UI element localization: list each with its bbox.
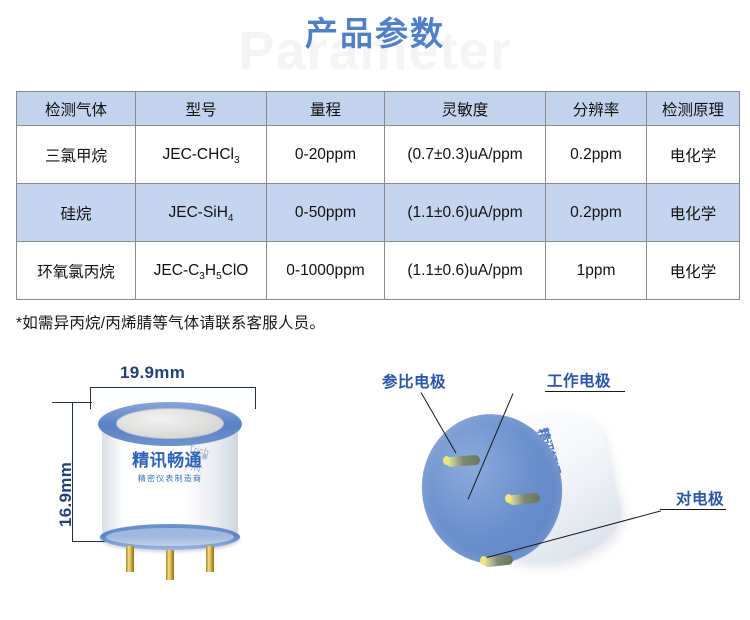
column-header-model: 型号 — [136, 92, 267, 126]
model-subscript: 4 — [228, 213, 234, 224]
model-subscript: 3 — [234, 155, 240, 166]
table-header-row: 检测气体 型号 量程 灵敏度 分辨率 检测原理 — [17, 92, 740, 126]
sensor-pin — [126, 546, 134, 572]
table-footnote: *如需异丙烷/丙烯腈等气体请联系客服人员。 — [16, 311, 325, 333]
callout-underline-counter-electrode — [660, 509, 726, 510]
column-header-resolution: 分辨率 — [546, 92, 647, 126]
cell-gas: 三氯甲烷 — [17, 126, 136, 184]
cell-principle: 电化学 — [647, 242, 740, 300]
sensor-pin — [206, 546, 214, 572]
model-text: JEC-SiH — [169, 204, 228, 221]
brand-tagline: 精密仪表制造商 — [114, 473, 226, 484]
cell-principle: 电化学 — [647, 126, 740, 184]
brand-name-text: 精讯畅通 — [132, 451, 202, 470]
model-text: JEC-C — [154, 262, 200, 279]
sensor-bottom-view: 精讯畅通精密仪表制造商 — [418, 400, 658, 600]
dimension-width-tick-left — [90, 387, 91, 409]
dimension-height-line — [72, 402, 73, 542]
dimension-width-label: 19.9mm — [120, 363, 185, 383]
cell-resolution: 0.2ppm — [546, 184, 647, 242]
dimension-width-line — [90, 387, 256, 388]
dimension-width-tick-right — [255, 387, 256, 409]
cell-gas: 硅烷 — [17, 184, 136, 242]
sensor-pin — [166, 550, 174, 580]
dimension-height-tick-top — [52, 402, 92, 403]
cell-range: 0-50ppm — [267, 184, 385, 242]
table-row: 环氧氯丙烷 JEC-C3H5ClO 0-1000ppm (1.1±0.6)uA/… — [17, 242, 740, 300]
specification-table: 检测气体 型号 量程 灵敏度 分辨率 检测原理 三氯甲烷 JEC-CHCl3 0… — [16, 91, 740, 300]
cell-sensitivity: (1.1±0.6)uA/ppm — [385, 242, 546, 300]
cell-sensitivity: (0.7±0.3)uA/ppm — [385, 126, 546, 184]
model-subscript-2: 5 — [216, 271, 222, 282]
reference-electrode-tip — [443, 456, 450, 465]
table-row: 硅烷 JEC-SiH4 0-50ppm (1.1±0.6)uA/ppm 0.2p… — [17, 184, 740, 242]
cell-resolution: 0.2ppm — [546, 126, 647, 184]
registered-mark-icon: ® — [202, 454, 208, 461]
sensor-gas-filter-mesh — [116, 408, 224, 439]
callout-label-reference-electrode: 参比电极 — [382, 370, 446, 392]
cell-gas: 环氧氯丙烷 — [17, 242, 136, 300]
page-title: 产品参数 — [0, 14, 750, 54]
brand-name: 精讯畅通® — [132, 452, 208, 471]
brand-logo: 精讯畅通® 精密仪表制造商 — [114, 452, 226, 484]
table-row: 三氯甲烷 JEC-CHCl3 0-20ppm (0.7±0.3)uA/ppm 0… — [17, 126, 740, 184]
sensor-bottom-inner — [106, 528, 234, 546]
cell-model: JEC-C3H5ClO — [136, 242, 267, 300]
cell-range: 0-20ppm — [267, 126, 385, 184]
product-figure: 19.9mm 16.9mm Trich P/N: 精讯畅通® 精密仪表制造商 精… — [0, 345, 750, 620]
page-header: Parameter 产品参数 — [0, 0, 750, 88]
dimension-height-label: 16.9mm — [56, 462, 76, 527]
model-text-mid: H — [205, 262, 216, 279]
cell-model: JEC-CHCl3 — [136, 126, 267, 184]
cell-resolution: 1ppm — [546, 242, 647, 300]
cell-sensitivity: (1.1±0.6)uA/ppm — [385, 184, 546, 242]
cell-principle: 电化学 — [647, 184, 740, 242]
callout-underline-working-electrode — [545, 391, 625, 392]
callout-label-working-electrode: 工作电极 — [547, 369, 611, 391]
sensor-front-view: Trich P/N: 精讯畅通® 精密仪表制造商 — [96, 400, 244, 560]
column-header-range: 量程 — [267, 92, 385, 126]
callout-label-counter-electrode: 对电极 — [676, 487, 724, 509]
column-header-gas: 检测气体 — [17, 92, 136, 126]
model-text: JEC-CHCl — [162, 146, 233, 163]
column-header-sensitivity: 灵敏度 — [385, 92, 546, 126]
working-electrode-tip — [505, 494, 512, 503]
model-subscript: 3 — [199, 271, 205, 282]
cell-model: JEC-SiH4 — [136, 184, 267, 242]
counter-electrode-tip — [480, 556, 487, 565]
column-header-principle: 检测原理 — [647, 92, 740, 126]
model-text-suffix: ClO — [222, 262, 249, 279]
cell-range: 0-1000ppm — [267, 242, 385, 300]
